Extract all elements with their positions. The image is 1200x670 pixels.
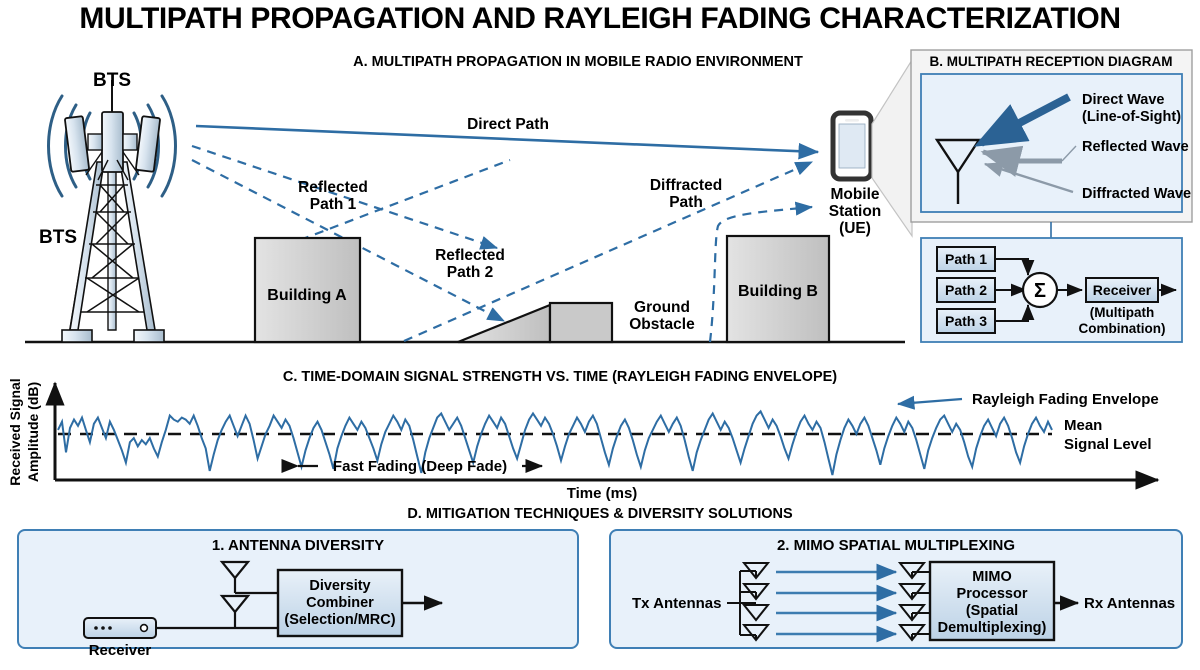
bts-side-label: BTS (39, 227, 77, 248)
diffracted-wave-label: Diffracted Wave (1082, 186, 1191, 202)
path1-label: Path 1 (945, 251, 987, 267)
mobile-label-2: Station (829, 203, 882, 220)
diffracted-path-label-1: Diffracted (650, 177, 722, 194)
rayleigh-envelope-trace (58, 411, 1052, 475)
panel-c-xlabel: Time (ms) (567, 485, 638, 502)
receiver-label-d1: Receiver (89, 642, 152, 659)
building-a-label: Building A (267, 287, 347, 304)
panel-d-heading: D. MITIGATION TECHNIQUES & DIVERSITY SOL… (407, 506, 793, 522)
diversity-combiner-label-2: Combiner (306, 595, 374, 611)
reflected-path-2-label-2: Path 2 (447, 264, 494, 281)
panel-d2-heading: 2. MIMO SPATIAL MULTIPLEXING (777, 537, 1015, 554)
rx-antennas-label: Rx Antennas (1084, 595, 1175, 612)
envelope-callout-arrow (898, 399, 962, 404)
reflected-path-1-label-2: Path 1 (310, 196, 357, 213)
ground-obstacle-label-1: Ground (634, 299, 690, 316)
mimo-processor-label-3: (Spatial (966, 603, 1018, 619)
direct-wave-label-2: (Line-of-Sight) (1082, 109, 1181, 125)
ground-obstacle-label-2: Obstacle (629, 316, 695, 333)
mean-signal-label-2: Signal Level (1064, 436, 1152, 453)
tx-antennas-label: Tx Antennas (632, 595, 721, 612)
reflected-path-1-label-1: Reflected (298, 179, 368, 196)
bts-top-label: BTS (93, 70, 131, 91)
reflected-wave-label: Reflected Wave (1082, 139, 1189, 155)
building-b-label: Building B (738, 283, 818, 300)
panel-b-heading: B. MULTIPATH RECEPTION DIAGRAM (930, 54, 1173, 69)
panel-d1-heading: 1. ANTENNA DIVERSITY (212, 537, 384, 554)
mimo-processor-label-2: Processor (957, 586, 1028, 602)
multipath-combination-label-2: Combination) (1079, 321, 1166, 336)
envelope-callout-label: Rayleigh Fading Envelope (972, 391, 1159, 408)
diversity-combiner-label-1: Diversity (309, 578, 370, 594)
mobile-station-icon (833, 113, 871, 179)
mean-signal-label-1: Mean (1064, 417, 1102, 434)
receiver-device-icon (84, 618, 156, 638)
mimo-processor-label-1: MIMO (972, 569, 1011, 585)
fast-fading-label: Fast Fading (Deep Fade) (333, 458, 507, 475)
infographic-root: MULTIPATH PROPAGATION AND RAYLEIGH FADIN… (0, 0, 1200, 670)
diffracted-path-label-2: Path (669, 194, 703, 211)
ground-slope (458, 305, 550, 342)
mimo-processor-label-4: Demultiplexing) (938, 620, 1047, 636)
diversity-combiner-label-3: (Selection/MRC) (284, 612, 395, 628)
page-title: MULTIPATH PROPAGATION AND RAYLEIGH FADIN… (79, 2, 1120, 35)
direct-path-label: Direct Path (467, 116, 549, 133)
reflected-path-2-label-1: Reflected (435, 247, 505, 264)
path2-label: Path 2 (945, 282, 987, 298)
sigma-symbol: Σ (1034, 280, 1046, 302)
panel-a-heading: A. MULTIPATH PROPAGATION IN MOBILE RADIO… (353, 54, 803, 70)
receiver-label-b: Receiver (1093, 282, 1152, 298)
panel-c-heading: C. TIME-DOMAIN SIGNAL STRENGTH VS. TIME … (283, 369, 837, 385)
panel-c-ylabel-2: Amplitude (dB) (25, 382, 41, 482)
direct-wave-label-1: Direct Wave (1082, 92, 1164, 108)
ground-obstacle (550, 303, 612, 342)
bts-tower (62, 80, 164, 342)
multipath-combination-label-1: (Multipath (1090, 305, 1154, 320)
path3-label: Path 3 (945, 313, 987, 329)
mobile-label-3: (UE) (839, 220, 871, 237)
panel-c-ylabel-1: Received Signal (7, 378, 23, 485)
mobile-label-1: Mobile (830, 186, 879, 203)
